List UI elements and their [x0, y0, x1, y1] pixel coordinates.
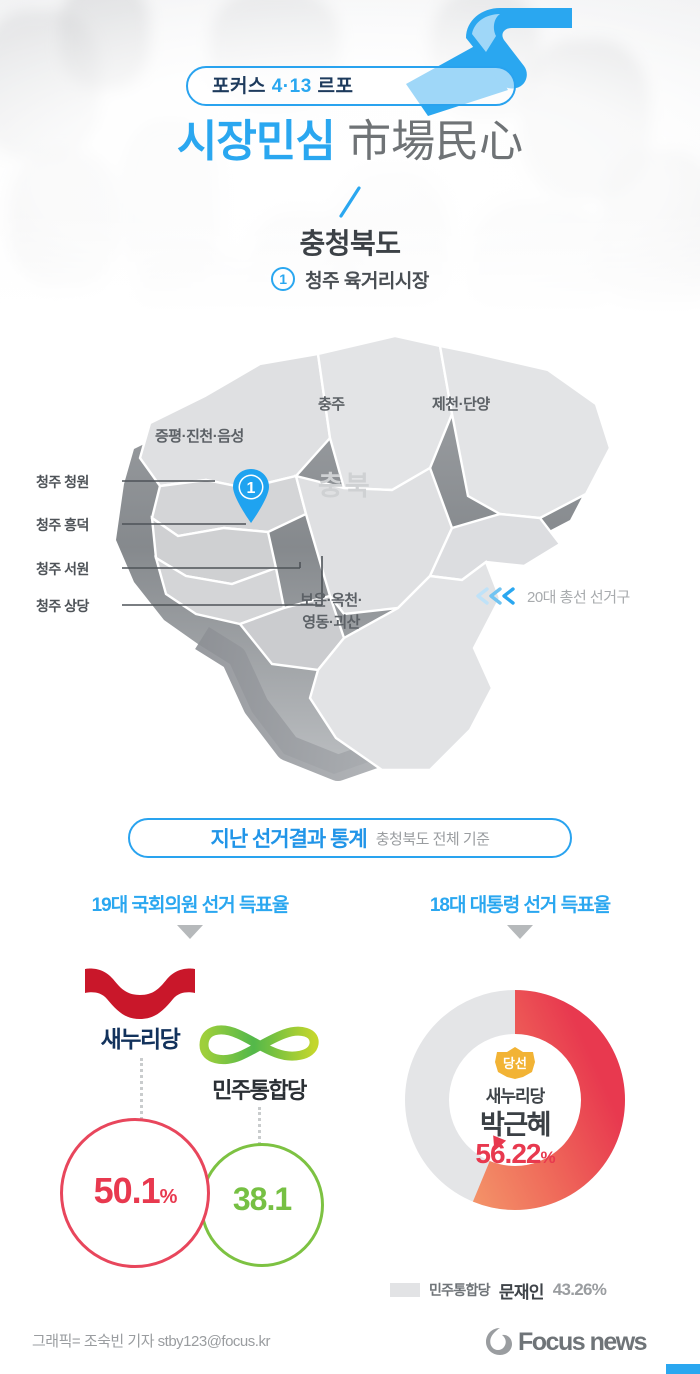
- connector-dots-minju: [258, 1107, 261, 1145]
- leader-label-seowon: 청주 서원: [36, 559, 89, 579]
- donut-legend-number: 43.26: [553, 1280, 592, 1299]
- minju-party-name: 민주통합당: [190, 1073, 328, 1105]
- triple-chevron-left-icon: [474, 586, 520, 606]
- map-pin-icon[interactable]: 1: [231, 468, 271, 524]
- report-tag-text: 포커스 4·13 르포: [212, 75, 472, 99]
- stats-heading-bold: 지난 선거결과 통계: [211, 823, 367, 853]
- market-name: 청주 육거리시장: [305, 266, 429, 293]
- map-label-jecheon-danyang: 제천·단양: [432, 393, 490, 414]
- map-pin-number: 1: [247, 480, 256, 497]
- leader-label-cheongwon: 청주 청원: [36, 472, 89, 492]
- donut-legend-value: 43.26%: [553, 1280, 606, 1300]
- vote-value-saenuri-pct: %: [160, 1186, 177, 1208]
- chart-right-heading: 18대 대통령 선거 득표율: [360, 890, 680, 917]
- saenuri-party-name: 새누리당: [75, 1020, 205, 1054]
- elected-badge-icon: 당선: [492, 1046, 538, 1080]
- connector-dots-saenuri: [140, 1058, 143, 1120]
- map-label-boeun-okcheon: 보은·옥천· 영동·괴산: [300, 590, 362, 634]
- slash-divider-icon: [337, 185, 363, 219]
- map-section: 1: [0, 318, 700, 788]
- vote-value-saenuri: 50.1%: [60, 1170, 210, 1212]
- donut-legend-pct: %: [592, 1280, 606, 1299]
- footer-accent-bar: [666, 1364, 700, 1374]
- chart-left-heading: 19대 국회의원 선거 득표율: [20, 890, 360, 917]
- focus-news-logo: Focus news: [484, 1326, 674, 1356]
- vote-value-saenuri-number: 50.1: [94, 1170, 160, 1211]
- title-hanja: 市場民心: [347, 116, 523, 167]
- donut-center-number: 56.22: [475, 1138, 540, 1169]
- triangle-down-icon-left: [177, 925, 203, 939]
- tag-date: 4·13: [272, 76, 312, 97]
- focus-swirl-icon: [486, 1328, 512, 1355]
- donut-legend-party: 민주통합당: [429, 1280, 490, 1300]
- donut-center-pct: %: [540, 1148, 554, 1167]
- triangle-down-icon-right: [507, 925, 533, 939]
- donut-center-value: 56.22%: [430, 1138, 600, 1170]
- map-districts: [140, 336, 610, 770]
- map-label-boeun-line1: 보은·옥천·: [300, 590, 362, 612]
- donut-legend: 민주통합당 문재인 43.26%: [390, 1280, 606, 1300]
- stats-heading-note: 충청북도 전체 기준: [376, 828, 490, 849]
- title-korean: 시장민심: [177, 117, 335, 166]
- map-watermark-chungbuk: 충북: [318, 464, 372, 503]
- vote-value-minju: 38.1: [200, 1181, 324, 1218]
- map-legend-20th-election: 20대 총선 선거구: [474, 585, 630, 607]
- leader-label-heungdeok: 청주 흥덕: [36, 515, 89, 535]
- focus-news-wordmark: Focus news: [518, 1328, 647, 1356]
- map-label-chungju: 충주: [318, 393, 345, 414]
- leader-label-sangdang: 청주 상당: [36, 596, 89, 616]
- donut-legend-swatch: [390, 1283, 420, 1297]
- graphic-credit: 그래픽= 조숙빈 기자 stby123@focus.kr: [32, 1330, 270, 1351]
- region-title: 충청북도: [0, 222, 700, 262]
- page-title: 시장민심 市場民心: [0, 115, 700, 169]
- donut-legend-person: 문재인: [499, 1278, 544, 1303]
- elected-badge-text: 당선: [503, 1056, 527, 1071]
- market-row: 1 청주 육거리시장: [0, 266, 700, 292]
- stats-heading-pill: 지난 선거결과 통계 충청북도 전체 기준: [128, 818, 572, 858]
- tag-suffix: 르포: [318, 76, 354, 97]
- infographic-page: 포커스 4·13 르포 시장민심 市場民心 충청북도 1 청주 육거리시장: [0, 0, 700, 1374]
- donut-center-person: 박근혜: [430, 1103, 600, 1142]
- map-label-boeun-line2: 영동·괴산: [300, 612, 362, 634]
- market-number-badge: 1: [271, 267, 295, 291]
- minju-party-logo: [196, 1020, 322, 1070]
- map-label-jeungpyeong: 증평·진천·음성: [155, 425, 244, 446]
- tag-prefix: 포커스: [212, 76, 266, 97]
- chungbuk-map: [0, 318, 700, 788]
- map-legend-text: 20대 총선 선거구: [527, 586, 630, 607]
